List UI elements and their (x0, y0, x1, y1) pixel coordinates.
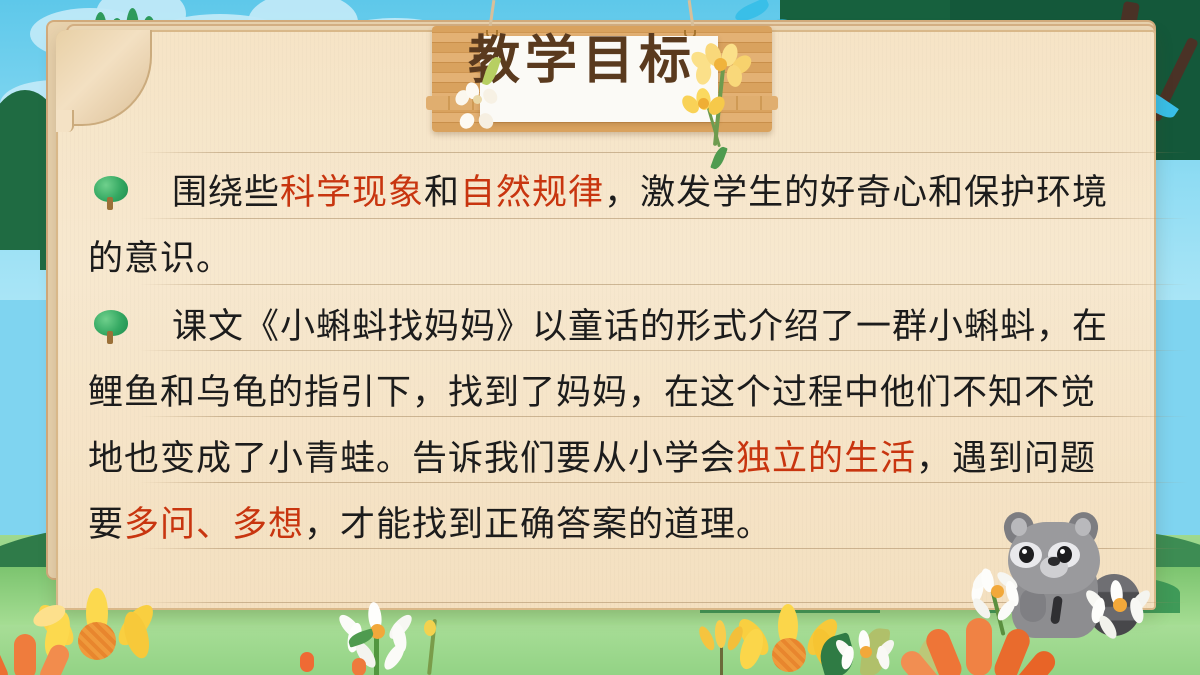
orange-bud (352, 658, 366, 675)
paragraph-1-run-0: 围绕些 (172, 173, 280, 212)
slide-canvas: 教学目标 (0, 0, 1200, 675)
raccoon-nose (1048, 557, 1060, 566)
paragraph-1-run-1: 科学现象 (280, 173, 424, 212)
raccoon-inner-ear (1075, 518, 1091, 536)
paragraph-1-run-2: 和 (424, 173, 460, 212)
raccoon-eye (1019, 546, 1034, 563)
paper-corner-notch (56, 110, 74, 132)
orange-bud (300, 652, 314, 672)
paragraph-2-run-4: ，才能找到正确答案的道理。 (304, 505, 772, 544)
paragraph-2-run-1: 独立的生活 (736, 439, 916, 478)
flower-bud (424, 620, 436, 636)
tree-icon (88, 176, 134, 210)
paragraph-1-run-3: 自然规律 (460, 173, 604, 212)
page-title: 教学目标 (468, 18, 696, 93)
body-content: 围绕些科学现象和自然规律，激发学生的好奇心和保护环境的意识。 课文《小蝌蚪找妈妈… (88, 160, 1128, 560)
objective-paragraph-2: 课文《小蝌蚪找妈妈》以童话的形式介绍了一群小蝌蚪，在鲤鱼和乌龟的指引下，找到了妈… (88, 294, 1128, 558)
raccoon-inner-ear (1011, 518, 1027, 536)
paragraph-2-run-3: 多问、多想 (124, 505, 304, 544)
tree-icon (88, 310, 134, 344)
title-sign: 教学目标 (432, 0, 772, 138)
objective-paragraph-1: 围绕些科学现象和自然规律，激发学生的好奇心和保护环境的意识。 (88, 160, 1128, 292)
